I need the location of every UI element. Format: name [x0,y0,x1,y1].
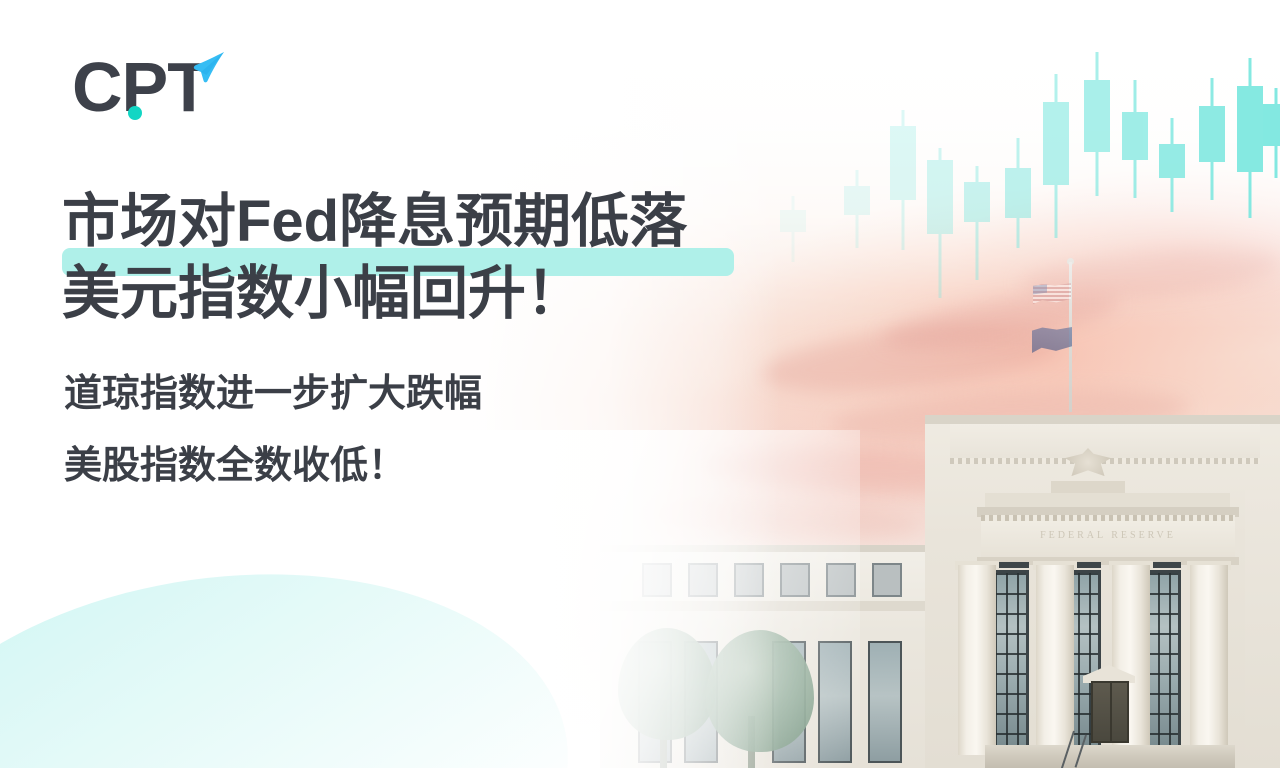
window [688,563,718,597]
headline-line-2: 美元指数小幅回升！ [62,258,822,330]
brand-dot-icon [128,106,142,120]
window [826,563,856,597]
subtitle-block: 道琼指数进一步扩大跌幅 美股指数全数收低！ [64,358,764,502]
subtitle-line-1: 道琼指数进一步扩大跌幅 [64,358,764,430]
column [1190,565,1228,755]
building-right-wing [1245,490,1280,768]
window [734,563,764,597]
headline-row-1: 市场对Fed降息预期低落 [62,186,822,258]
window [780,563,810,597]
column [958,565,996,755]
headline-line-1: 市场对Fed降息预期低落 [62,186,822,258]
frieze: FEDERAL RESERVE [981,521,1235,557]
tall-window [868,641,902,763]
eagle-pedestal [1051,481,1125,493]
entrance-door [1091,681,1129,743]
cornice [925,415,1280,424]
column [1036,565,1074,755]
frieze-inscription: FEDERAL RESERVE [981,530,1235,541]
attic-story [950,424,1260,460]
poster-canvas: FEDERAL RESERVE [0,0,1280,768]
window [642,563,672,597]
tall-window [818,641,852,763]
headline-block: 市场对Fed降息预期低落 美元指数小幅回升！ [62,186,822,330]
subtitle-line-2: 美股指数全数收低！ [64,430,764,502]
paper-plane-icon [186,50,226,84]
entrance-steps [985,745,1235,768]
headline-row-2: 美元指数小幅回升！ [62,258,822,330]
window [872,563,902,597]
federal-reserve-building: FEDERAL RESERVE [925,415,1280,768]
